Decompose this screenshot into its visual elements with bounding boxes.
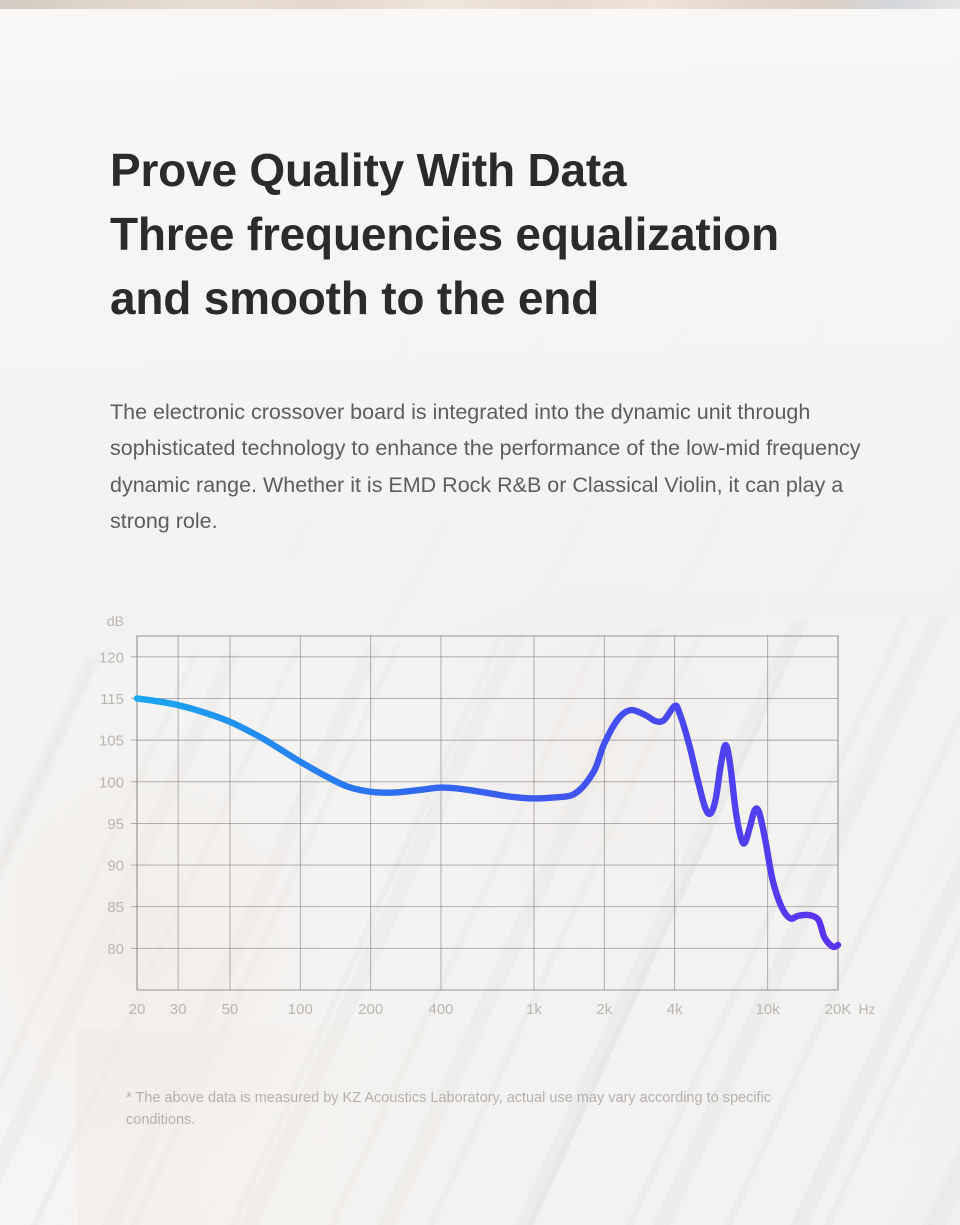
x-tick-label: 200 xyxy=(358,1001,383,1018)
x-tick-label: 50 xyxy=(222,1001,239,1018)
x-tick-label: 20 xyxy=(129,1001,146,1018)
x-tick-label: 400 xyxy=(428,1001,453,1018)
x-tick-label: 4k xyxy=(667,1001,683,1018)
y-tick-label: 90 xyxy=(107,858,124,875)
x-axis-title: Hz xyxy=(858,1001,875,1017)
y-tick-label: 95 xyxy=(107,816,124,833)
response-curve xyxy=(137,698,838,947)
product-detail-page: Prove Quality With Data Three frequencie… xyxy=(0,0,960,1225)
y-axis-title: dB xyxy=(107,615,124,629)
body-paragraph: The electronic crossover board is integr… xyxy=(110,394,870,540)
chart-gridlines xyxy=(131,636,838,990)
headline-line-2: Three frequencies equalization xyxy=(110,202,940,266)
frequency-response-plot: 12011510510095908580 2030501002004001k2k… xyxy=(0,615,960,1035)
x-tick-label: 10k xyxy=(756,1001,781,1018)
x-tick-label: 1k xyxy=(526,1001,542,1018)
headline-line-3: and smooth to the end xyxy=(110,266,940,330)
frequency-response-chart: 12011510510095908580 2030501002004001k2k… xyxy=(0,615,960,1035)
y-tick-label: 100 xyxy=(99,774,124,791)
y-axis-tick-labels: 12011510510095908580 xyxy=(99,649,124,958)
x-tick-label: 2k xyxy=(596,1001,612,1018)
page-headline: Prove Quality With Data Three frequencie… xyxy=(110,138,940,330)
x-tick-label: 20K xyxy=(825,1001,852,1018)
y-tick-label: 80 xyxy=(107,941,124,958)
y-tick-label: 115 xyxy=(100,691,124,708)
x-tick-label: 100 xyxy=(288,1001,313,1018)
content-layer: Prove Quality With Data Three frequencie… xyxy=(0,0,960,1225)
y-tick-label: 105 xyxy=(99,733,124,750)
y-tick-label: 85 xyxy=(107,899,124,916)
chart-footnote: * The above data is measured by KZ Acous… xyxy=(126,1087,826,1131)
x-axis-tick-labels: 2030501002004001k2k4k10k20K xyxy=(129,1001,852,1018)
y-tick-label: 120 xyxy=(99,649,124,666)
headline-line-1: Prove Quality With Data xyxy=(110,138,940,202)
x-tick-label: 30 xyxy=(170,1001,187,1018)
